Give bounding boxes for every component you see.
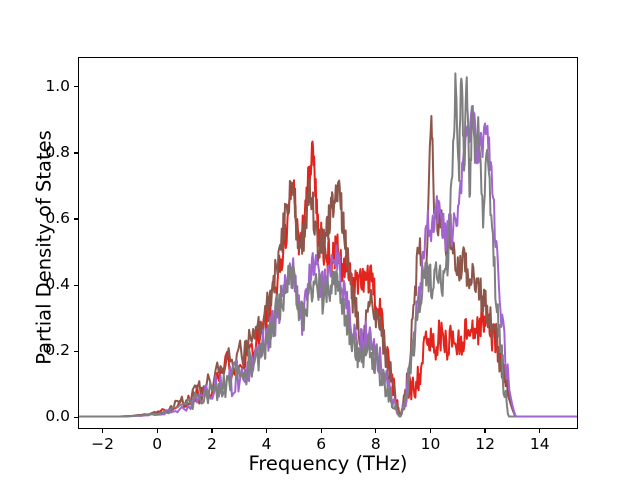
curves-svg	[79, 58, 577, 428]
x-tick-label: 2	[190, 435, 234, 453]
y-tick	[74, 417, 78, 418]
x-tick-label: 8	[354, 435, 398, 453]
x-tick-label: 14	[518, 435, 562, 453]
x-tick	[484, 429, 485, 433]
phonon-pdos-figure: −202468101214 0.00.20.40.60.81.0 Frequen…	[0, 0, 640, 480]
y-tick	[74, 86, 78, 87]
x-axis-title: Frequency (THz)	[78, 452, 578, 475]
y-tick	[74, 218, 78, 219]
x-tick	[266, 429, 267, 433]
y-tick	[74, 351, 78, 352]
x-tick-label: 6	[299, 435, 343, 453]
x-tick-label: −2	[81, 435, 125, 453]
x-tick-label: 0	[135, 435, 179, 453]
x-tick	[375, 429, 376, 433]
series-gray-curve	[79, 73, 514, 416]
x-tick	[321, 429, 322, 433]
plot-area	[78, 57, 578, 429]
x-tick-label: 12	[463, 435, 507, 453]
x-tick-label: 4	[245, 435, 289, 453]
x-tick	[157, 429, 158, 433]
y-tick	[74, 152, 78, 153]
y-axis-title: Partial Density of States	[33, 62, 56, 434]
x-tick	[539, 429, 540, 433]
x-tick	[102, 429, 103, 433]
x-tick	[211, 429, 212, 433]
x-tick-label: 10	[408, 435, 452, 453]
x-tick	[430, 429, 431, 433]
y-tick	[74, 285, 78, 286]
